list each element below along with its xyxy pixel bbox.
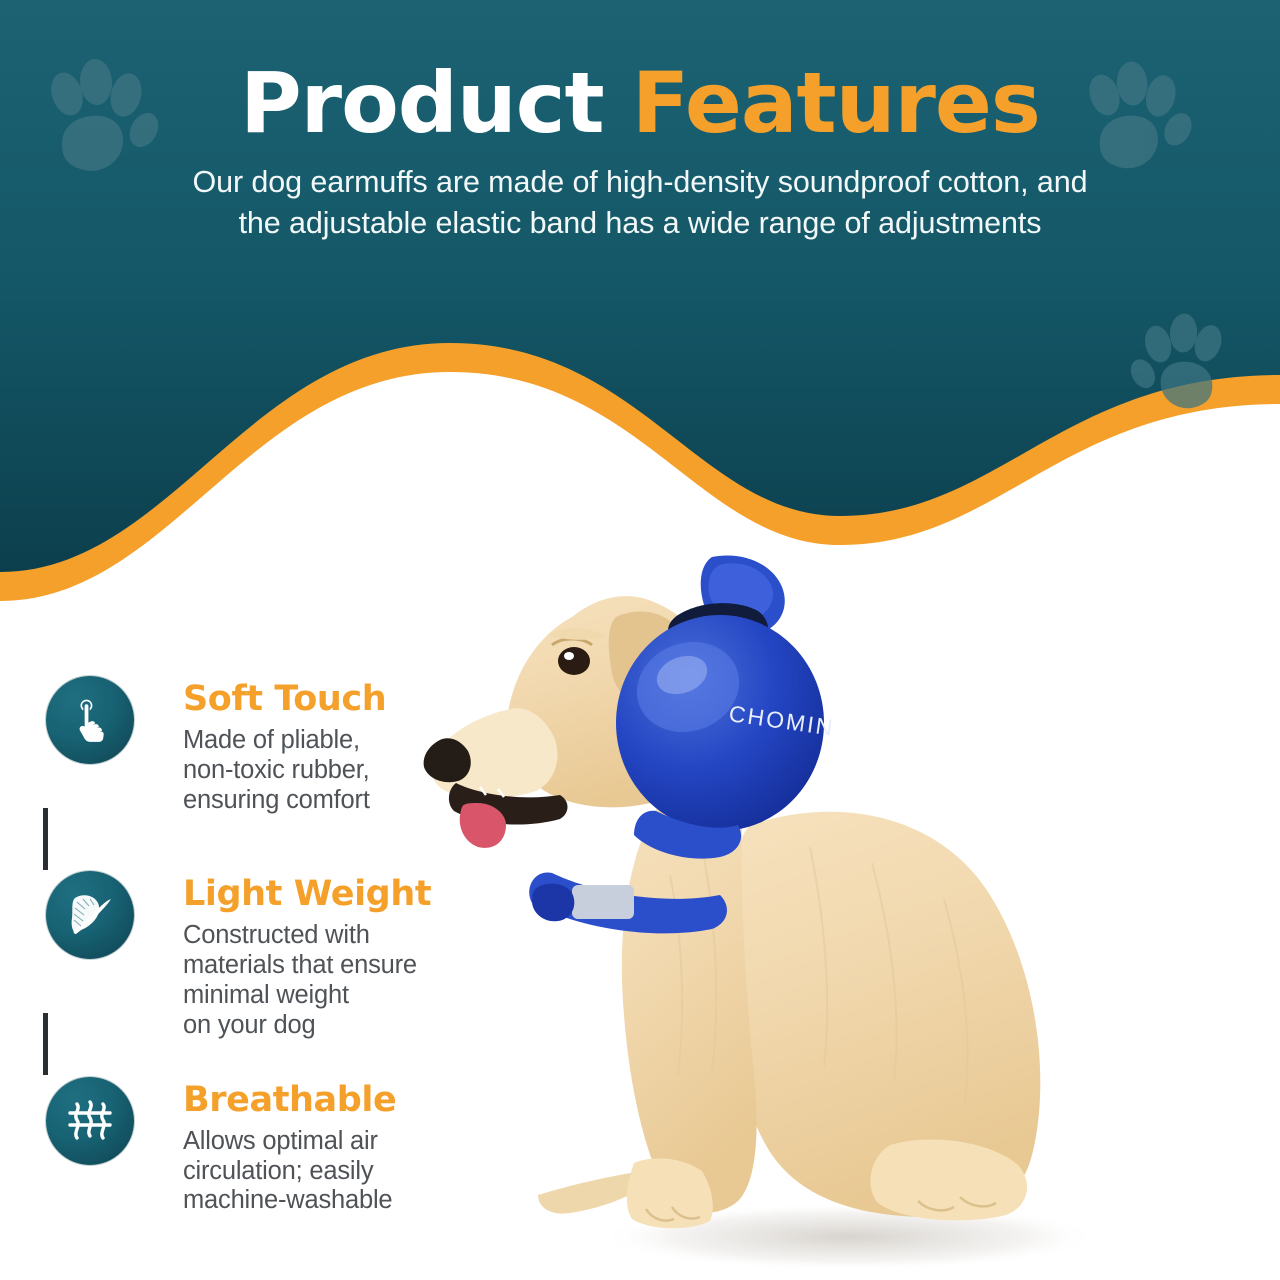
dog-eye <box>558 647 590 675</box>
feature-description-line: machine-washable <box>183 1186 396 1216</box>
feature-description: Constructed with materials that ensure m… <box>183 921 431 1040</box>
page-title-word-product: Product <box>240 54 604 152</box>
feature-title: Breathable <box>183 1083 396 1118</box>
feature-description-line: on your dog <box>183 1011 431 1041</box>
feature-description-line: ensuring comfort <box>183 786 386 816</box>
feature-spacer <box>46 815 546 871</box>
product-photo-dog-with-earmuffs: CHOMIN <box>420 495 1280 1280</box>
feature-spacer <box>46 1041 546 1077</box>
feature-icon-wrapper <box>46 871 142 959</box>
feature-description-line: Allows optimal air <box>183 1127 396 1157</box>
feature-item-light-weight: Light Weight Constructed with materials … <box>46 871 546 1040</box>
feature-item-soft-touch: Soft Touch Made of pliable, non-toxic ru… <box>46 676 546 815</box>
header-text-block: Product Features Our dog earmuffs are ma… <box>0 0 1280 244</box>
page-title-word-features: Features <box>632 54 1040 152</box>
tap-hand-icon <box>65 695 115 745</box>
air-circulation-icon <box>64 1096 116 1146</box>
feature-title: Light Weight <box>183 877 431 912</box>
feature-icon-badge <box>46 676 134 764</box>
feature-item-breathable: Breathable Allows optimal air circulatio… <box>46 1077 546 1216</box>
feature-text-block: Breathable Allows optimal air circulatio… <box>142 1077 396 1216</box>
feature-description-line: circulation; easily <box>183 1157 396 1187</box>
feature-description: Made of pliable, non-toxic rubber, ensur… <box>183 726 386 815</box>
feature-description: Allows optimal air circulation; easily m… <box>183 1127 396 1216</box>
infographic-canvas: Product Features Our dog earmuffs are ma… <box>0 0 1280 1280</box>
strap-slider <box>572 885 634 919</box>
feature-icon-wrapper <box>46 676 142 764</box>
feature-description-line: minimal weight <box>183 981 431 1011</box>
feature-icon-wrapper <box>46 1077 142 1165</box>
feature-text-block: Light Weight Constructed with materials … <box>142 871 431 1040</box>
feature-description-line: non-toxic rubber, <box>183 756 386 786</box>
feature-description-line: Constructed with <box>183 921 431 951</box>
page-subtitle-line-2: the adjustable elastic band has a wide r… <box>0 203 1280 244</box>
page-subtitle: Our dog earmuffs are made of high-densit… <box>0 162 1280 244</box>
feature-title: Soft Touch <box>183 682 386 717</box>
feature-icon-badge <box>46 871 134 959</box>
feature-text-block: Soft Touch Made of pliable, non-toxic ru… <box>142 676 386 815</box>
page-subtitle-line-1: Our dog earmuffs are made of high-densit… <box>0 162 1280 203</box>
page-title: Product Features <box>0 62 1280 144</box>
feature-list: Soft Touch Made of pliable, non-toxic ru… <box>46 676 546 1216</box>
feature-description-line: materials that ensure <box>183 951 431 981</box>
feature-icon-badge <box>46 1077 134 1165</box>
feather-icon <box>63 888 117 942</box>
paw-print-icon <box>1126 306 1236 416</box>
feature-description-line: Made of pliable, <box>183 726 386 756</box>
